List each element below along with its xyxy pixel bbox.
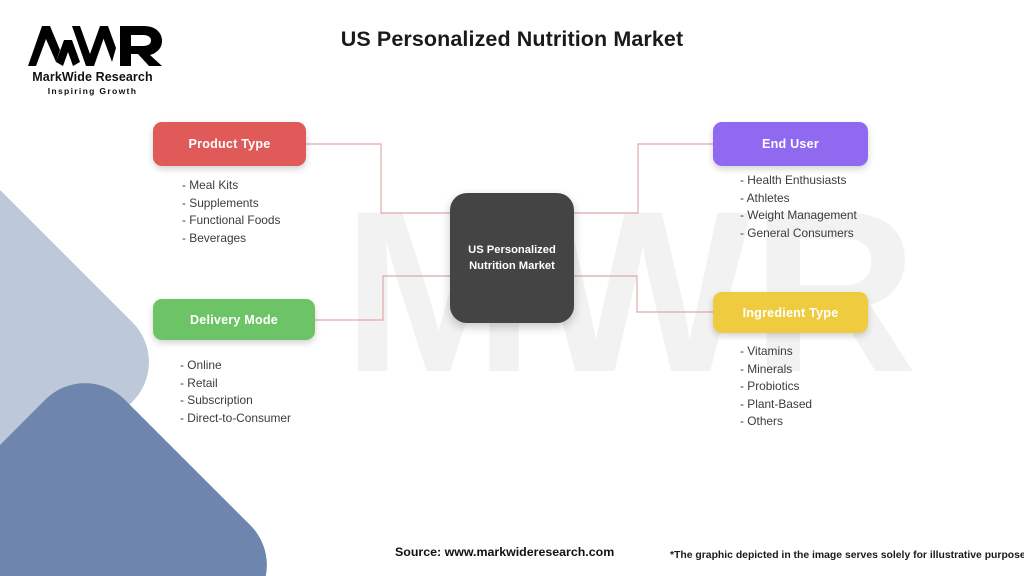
- center-label-line-2: Nutrition Market: [468, 258, 556, 274]
- node-center-market-label: US Personalized Nutrition Market: [462, 242, 562, 274]
- source-credit: Source: www.markwideresearch.com: [395, 545, 614, 559]
- list-delivery-mode: - Online - Retail - Subscription - Direc…: [180, 357, 291, 427]
- list-ingredient-type: - Vitamins - Minerals - Probiotics - Pla…: [740, 343, 812, 431]
- list-item: - Others: [740, 413, 812, 431]
- list-item: - General Consumers: [740, 225, 857, 243]
- list-item: - Plant-Based: [740, 396, 812, 414]
- connector-delivery-mode: [315, 276, 450, 320]
- list-item: - Health Enthusiasts: [740, 172, 857, 190]
- list-item: - Direct-to-Consumer: [180, 410, 291, 428]
- list-item: - Beverages: [182, 230, 280, 248]
- brand-name: MarkWide Research: [20, 71, 165, 85]
- node-ingredient-type-label: Ingredient Type: [743, 306, 839, 320]
- node-product-type[interactable]: Product Type: [153, 122, 306, 166]
- diagram-canvas: MWR MarkWide Research Inspiring Growth U…: [0, 0, 1024, 576]
- list-item: - Online: [180, 357, 291, 375]
- node-end-user[interactable]: End User: [713, 122, 868, 166]
- list-item: - Probiotics: [740, 378, 812, 396]
- list-item: - Subscription: [180, 392, 291, 410]
- list-item: - Weight Management: [740, 207, 857, 225]
- list-end-user: - Health Enthusiasts - Athletes - Weight…: [740, 172, 857, 242]
- list-item: - Meal Kits: [182, 177, 280, 195]
- list-item: - Athletes: [740, 190, 857, 208]
- node-ingredient-type[interactable]: Ingredient Type: [713, 292, 868, 333]
- center-label-line-1: US Personalized: [468, 242, 556, 258]
- list-product-type: - Meal Kits - Supplements - Functional F…: [182, 177, 280, 247]
- node-center-market[interactable]: US Personalized Nutrition Market: [450, 193, 574, 323]
- node-product-type-label: Product Type: [189, 137, 271, 151]
- list-item: - Vitamins: [740, 343, 812, 361]
- page-title: US Personalized Nutrition Market: [0, 27, 1024, 52]
- watermark-mwr: MWR: [270, 196, 990, 406]
- decorative-shape-light: [0, 150, 172, 574]
- node-delivery-mode-label: Delivery Mode: [190, 313, 278, 327]
- connector-product-type: [306, 144, 450, 213]
- list-item: - Retail: [180, 375, 291, 393]
- node-delivery-mode[interactable]: Delivery Mode: [153, 299, 315, 340]
- brand-tagline: Inspiring Growth: [20, 87, 165, 96]
- node-end-user-label: End User: [762, 137, 819, 151]
- list-item: - Functional Foods: [182, 212, 280, 230]
- list-item: - Supplements: [182, 195, 280, 213]
- connector-ingredient-type: [574, 276, 713, 312]
- disclaimer-note: *The graphic depicted in the image serve…: [670, 550, 1024, 561]
- connector-end-user: [574, 144, 713, 213]
- list-item: - Minerals: [740, 361, 812, 379]
